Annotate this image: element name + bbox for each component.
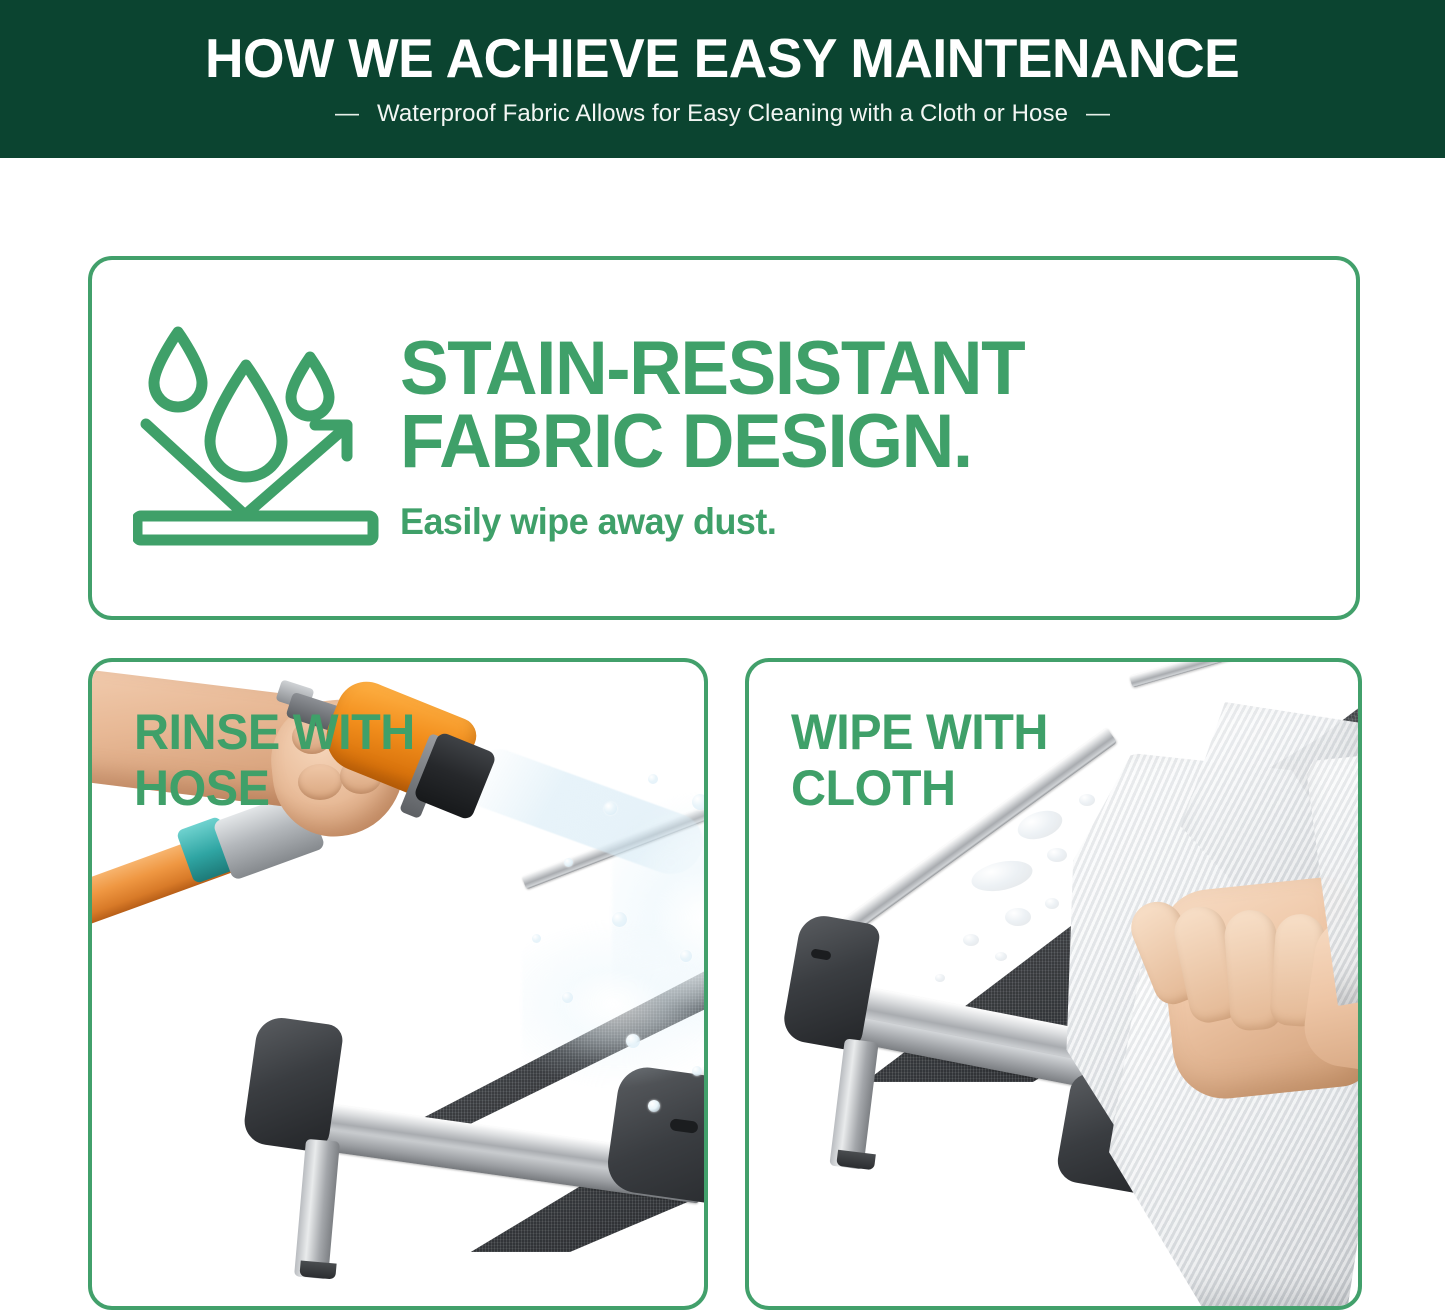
- rinse-card: RINSE WITH HOSE: [88, 658, 708, 1310]
- water-repellent-fabric-icon: [92, 324, 392, 552]
- feature-headline-line2: FABRIC DESIGN.: [400, 406, 1024, 479]
- feature-text-block: STAIN-RESISTANT FABRIC DESIGN. Easily wi…: [392, 333, 1050, 543]
- feature-headline-line1: STAIN-RESISTANT: [400, 333, 1024, 406]
- cloth-wiping-pet-cot-photo: [749, 662, 1358, 1306]
- spray-droplet: [680, 950, 692, 962]
- page-subtitle: Waterproof Fabric Allows for Easy Cleani…: [377, 100, 1068, 128]
- spray-droplet: [692, 794, 704, 810]
- water-bead: [1079, 794, 1095, 806]
- water-bead: [1045, 898, 1059, 909]
- water-bead: [969, 856, 1035, 896]
- wipe-card: WIPE WITH CLOTH: [745, 658, 1362, 1310]
- water-bead: [1005, 908, 1031, 926]
- spray-droplet: [648, 1100, 660, 1112]
- cot-leg-foot-left: [299, 1260, 336, 1279]
- dash-right-icon: —: [1086, 100, 1110, 128]
- water-bead: [995, 952, 1007, 961]
- water-splash-secondary: [522, 912, 704, 1112]
- spray-droplet: [692, 1066, 702, 1076]
- feature-card: STAIN-RESISTANT FABRIC DESIGN. Easily wi…: [88, 256, 1360, 620]
- cot-corner-cap-left: [242, 1015, 345, 1154]
- cot-leg-front-left: [829, 1038, 878, 1169]
- subtitle-row: — Waterproof Fabric Allows for Easy Clea…: [335, 100, 1110, 128]
- infographic-page: HOW WE ACHIEVE EASY MAINTENANCE — Waterp…: [0, 0, 1445, 1316]
- hose-spraying-pet-cot-photo: [92, 662, 704, 1306]
- water-bead: [963, 934, 979, 946]
- spray-droplet: [532, 934, 541, 943]
- water-repellent-fabric-icon-svg: [133, 324, 381, 552]
- cot-leg-foot-left: [836, 1150, 876, 1171]
- knuckle: [298, 764, 342, 800]
- spray-droplet: [648, 774, 658, 784]
- water-bead: [1047, 848, 1067, 862]
- feature-subline: Easily wipe away dust.: [400, 501, 1031, 543]
- spray-droplet: [626, 1034, 640, 1048]
- spray-droplet: [612, 912, 627, 927]
- spray-droplet: [564, 858, 573, 867]
- header-banner: HOW WE ACHIEVE EASY MAINTENANCE — Waterp…: [0, 0, 1445, 158]
- cot-back-rail: [1129, 662, 1358, 688]
- cot-leg-front-left: [294, 1139, 340, 1279]
- spray-droplet: [562, 992, 573, 1003]
- water-bead: [935, 974, 945, 982]
- spray-droplet: [604, 802, 617, 815]
- page-title: HOW WE ACHIEVE EASY MAINTENANCE: [205, 30, 1239, 88]
- dash-left-icon: —: [335, 100, 359, 128]
